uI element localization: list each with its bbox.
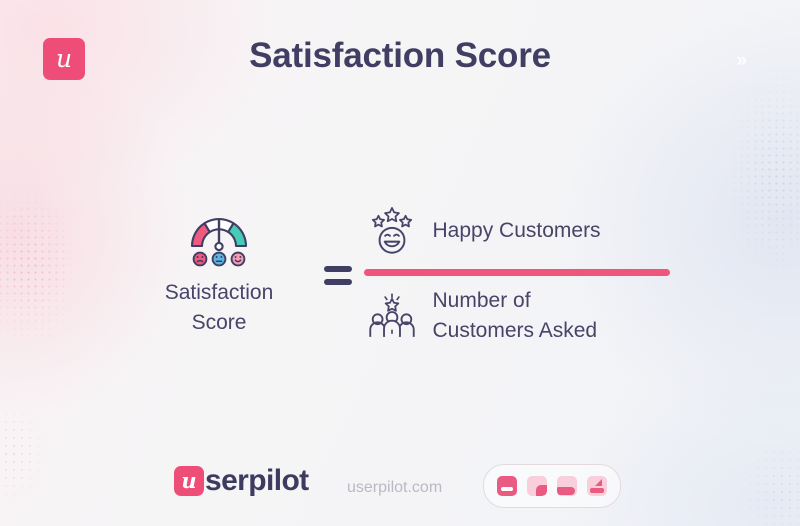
- tile-bar-icon[interactable]: [557, 476, 577, 496]
- tile-corner-icon[interactable]: [527, 476, 547, 496]
- satisfaction-score-label-line1: Satisfaction: [165, 278, 274, 308]
- footer-url[interactable]: userpilot.com: [347, 479, 442, 497]
- formula-fraction: Happy Customers: [364, 200, 674, 347]
- slide-canvas: u Satisfaction Score »: [0, 0, 800, 526]
- double-chevron-right-icon[interactable]: »: [736, 50, 745, 72]
- customers-asked-label: Number of Customers Asked: [433, 286, 598, 347]
- satisfaction-score-label-line2: Score: [165, 308, 274, 338]
- formula-left-side: Satisfaction Score: [127, 206, 312, 338]
- footer-logo-letter: u: [181, 470, 196, 491]
- happy-face-stars-icon: [364, 205, 420, 257]
- fraction-numerator: Happy Customers: [364, 200, 674, 262]
- equals-bar-top: [324, 266, 352, 272]
- fraction-denominator: Number of Customers Asked: [364, 285, 674, 347]
- footer-logo-badge: u: [174, 466, 204, 496]
- equals-bar-bottom: [324, 279, 352, 285]
- customers-asked-label-line2: Customers Asked: [433, 319, 598, 342]
- dot-texture-right-lower: [690, 376, 800, 526]
- happy-customers-label: Happy Customers: [433, 216, 601, 246]
- satisfaction-score-label: Satisfaction Score: [165, 278, 274, 338]
- equals-sign-icon: [312, 266, 364, 285]
- widget-toolbar[interactable]: [483, 464, 621, 508]
- footer-logo-wordmark: serpilot: [205, 466, 309, 496]
- dot-texture-left-lower: [0, 370, 84, 520]
- tile-chart-icon[interactable]: [587, 476, 607, 496]
- fraction-divider-bar: [364, 269, 670, 276]
- tile-checklist-icon[interactable]: [497, 476, 517, 496]
- group-of-people-icon: [364, 290, 420, 342]
- satisfaction-gauge-icon: [184, 206, 254, 268]
- page-title: Satisfaction Score: [0, 36, 800, 76]
- formula-block: Satisfaction Score: [0, 196, 800, 347]
- customers-asked-label-line1: Number of: [433, 289, 531, 312]
- userpilot-footer-logo[interactable]: u serpilot: [174, 466, 309, 496]
